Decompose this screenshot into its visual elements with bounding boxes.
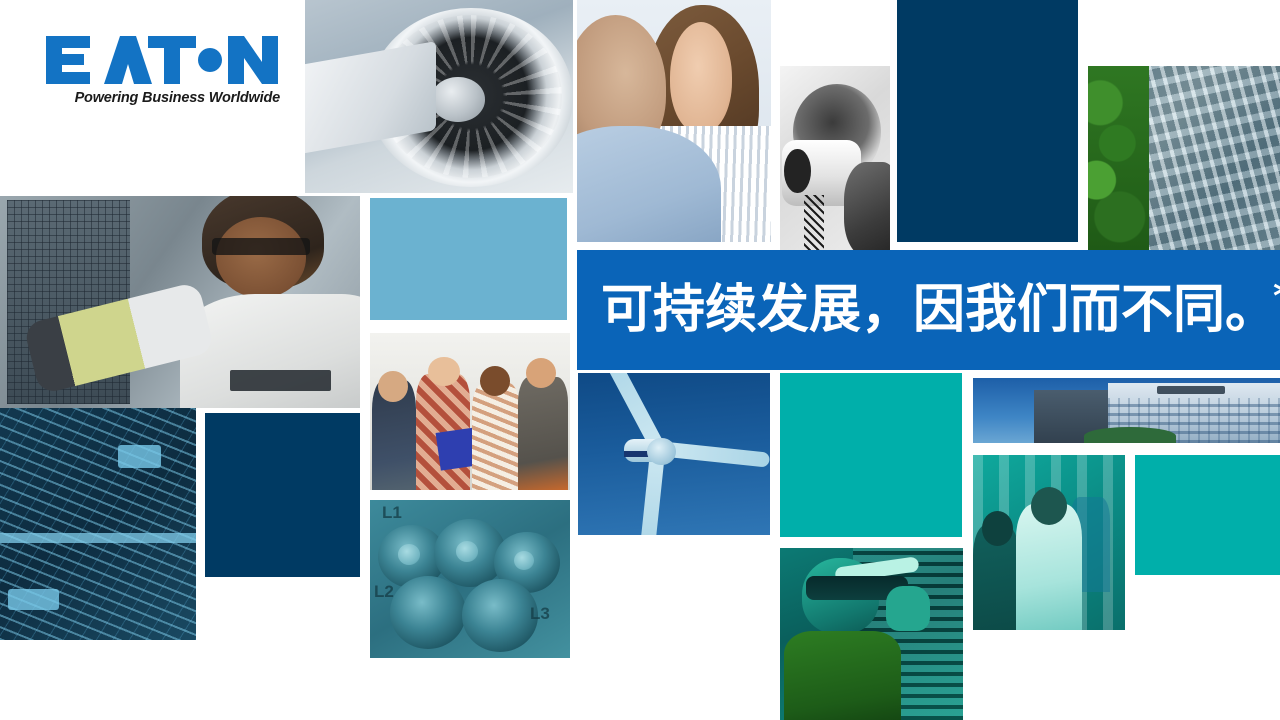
eaton-logo: Powering Business Worldwide (44, 32, 284, 122)
tile-teal-block-center (780, 373, 962, 537)
tile-vr-worker (780, 548, 963, 720)
tile-wind-turbine (578, 373, 770, 535)
tile-ev-charger (780, 66, 890, 250)
headline-banner: 可持续发展，因我们而不同。* (577, 250, 1280, 370)
tile-students-group (370, 333, 570, 490)
tile-circuit-board (0, 408, 196, 640)
headline-footnote-marker: * (1273, 274, 1280, 318)
tile-jet-engine (305, 0, 573, 193)
tile-power-connector: L1 L2 L3 (370, 500, 570, 658)
tile-teal-block-right (1135, 455, 1280, 575)
slide-canvas: Powering Business Worldwide (0, 0, 1280, 720)
eaton-tagline: Powering Business Worldwide (44, 90, 280, 106)
connector-label-l2: L2 (374, 582, 394, 602)
eaton-wordmark-icon (44, 32, 280, 88)
connector-label-l3: L3 (530, 604, 550, 624)
connector-label-l1: L1 (382, 503, 402, 523)
tile-light-blue-block (370, 198, 567, 320)
headline-main: 可持续发展，因我们而不同。 (601, 280, 1277, 340)
tile-factory-worker (0, 196, 360, 408)
headline-text: 可持续发展，因我们而不同。* (577, 284, 1280, 336)
tile-team-bench (973, 455, 1125, 630)
tile-navy-block-left (205, 413, 360, 577)
tile-aerial-city (1088, 66, 1280, 250)
tile-eaton-building (973, 378, 1280, 443)
tile-navy-block-top (897, 0, 1078, 242)
tile-colleagues-talking (577, 0, 771, 242)
